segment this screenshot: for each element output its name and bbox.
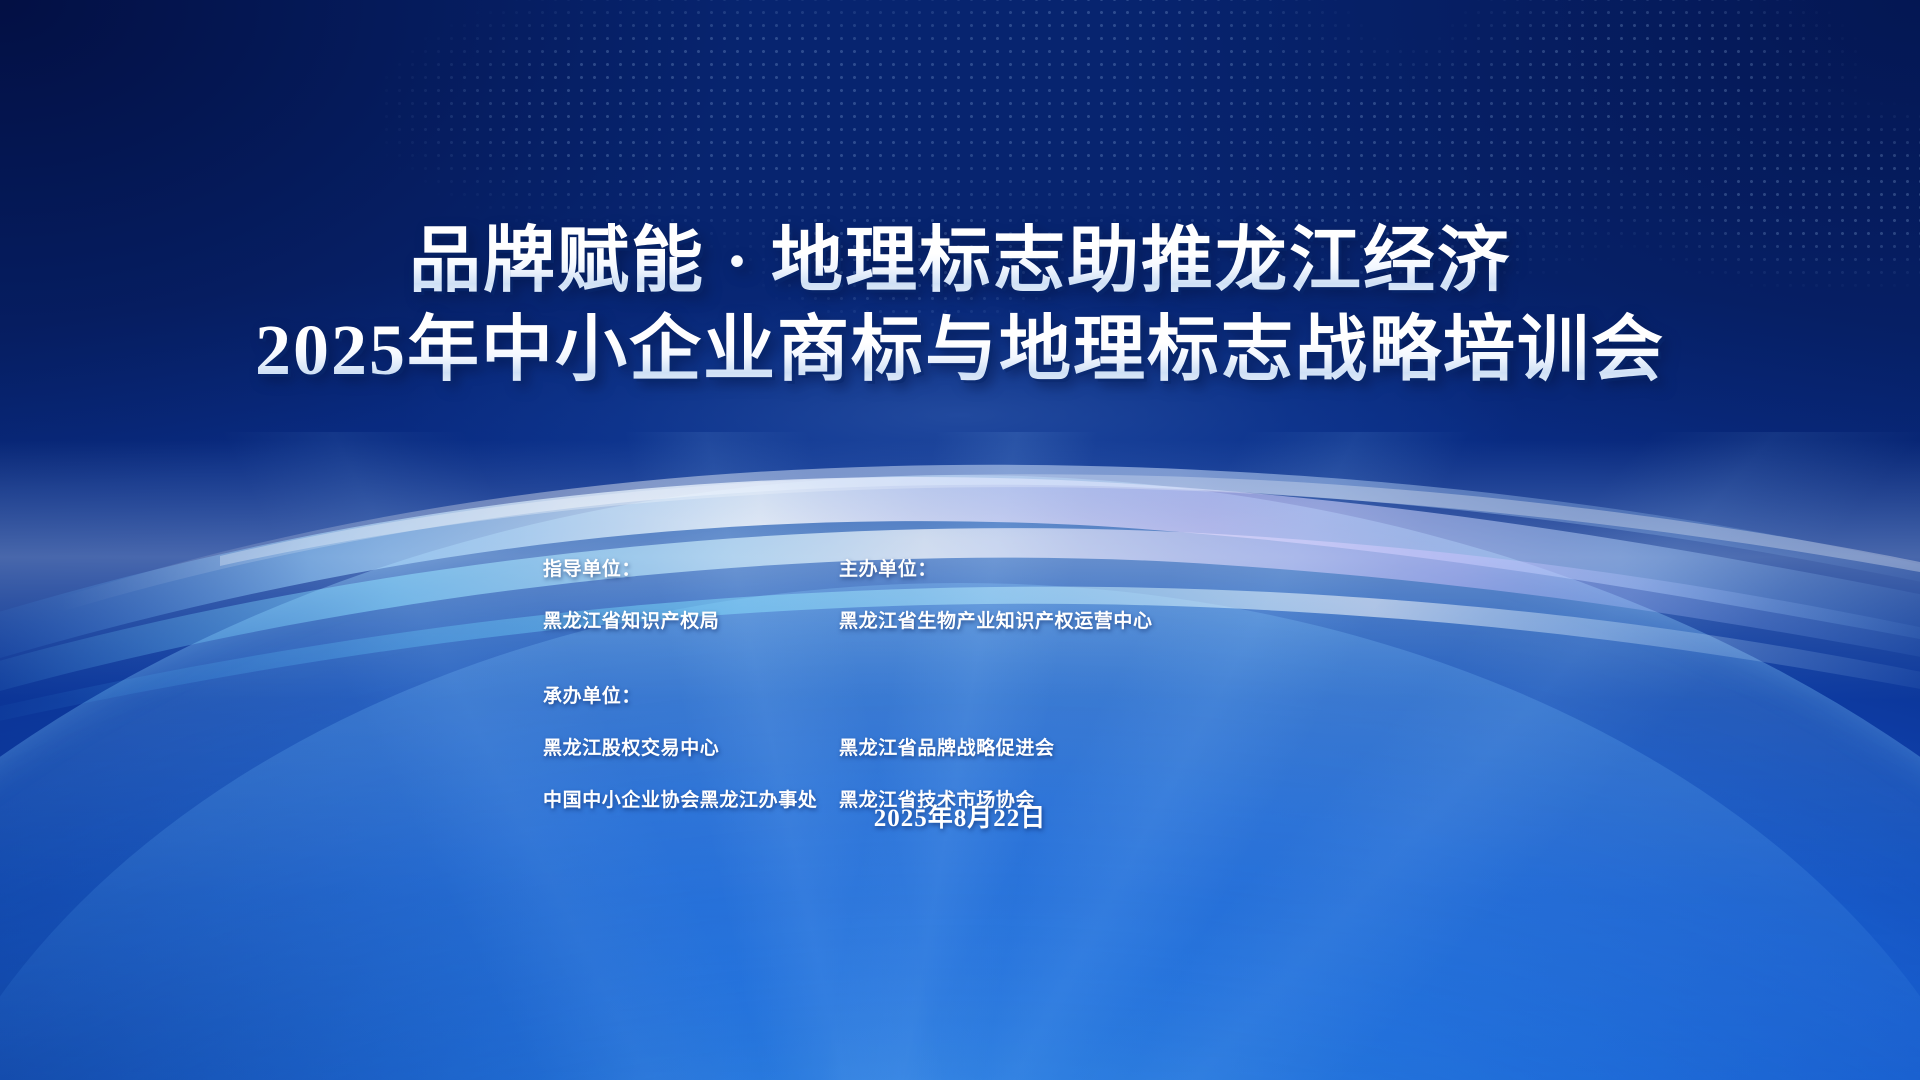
title-line-2: 2025年中小企业商标与地理标志战略培训会: [0, 311, 1920, 390]
organizer-unit-item-right-1: 黑龙江省品牌战略促进会: [839, 739, 1303, 758]
spacer: [839, 579, 1303, 612]
spacer: [543, 579, 839, 612]
spacer: [543, 706, 839, 739]
spacer: [543, 631, 839, 687]
title-line-1: 品牌赋能 · 地理标志助推龙江经济: [0, 222, 1920, 301]
spacer: [839, 706, 1303, 739]
guidance-unit-item-1: 黑龙江省知识产权局: [543, 612, 839, 631]
guidance-unit-label: 指导单位：: [543, 560, 839, 579]
organizer-unit-label: 承办单位：: [543, 687, 839, 706]
event-date: 2025年8月22日: [0, 798, 1920, 834]
poster-title: 品牌赋能 · 地理标志助推龙江经济 2025年中小企业商标与地理标志战略培训会: [0, 222, 1920, 390]
spacer: [839, 631, 1303, 687]
host-unit-item-1: 黑龙江省生物产业知识产权运营中心: [839, 612, 1303, 631]
host-unit-label: 主办单位：: [839, 560, 1303, 579]
spacer: [543, 758, 839, 791]
spacer: [839, 687, 1303, 706]
organizer-unit-item-left-1: 黑龙江股权交易中心: [543, 739, 839, 758]
organizations-block: 指导单位： 主办单位： 黑龙江省知识产权局 黑龙江省生物产业知识产权运营中心 承…: [543, 560, 1303, 810]
spacer: [839, 758, 1303, 791]
poster-banner: 品牌赋能 · 地理标志助推龙江经济 2025年中小企业商标与地理标志战略培训会 …: [0, 0, 1920, 1080]
